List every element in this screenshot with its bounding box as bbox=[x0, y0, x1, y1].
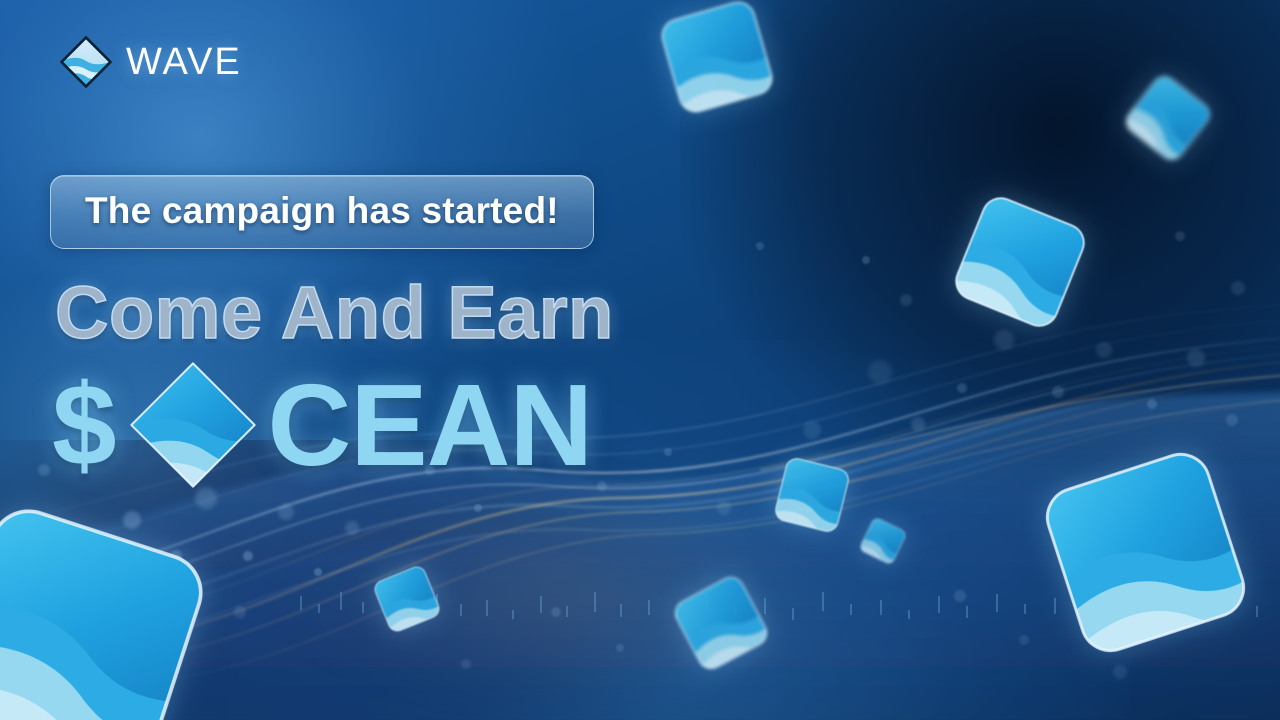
bokeh-dot bbox=[1226, 414, 1238, 426]
bokeh-dot bbox=[474, 504, 482, 512]
bokeh-dot bbox=[957, 383, 967, 393]
bokeh-dot bbox=[278, 504, 294, 520]
bokeh-dot bbox=[911, 417, 925, 431]
bokeh-dot bbox=[862, 256, 870, 264]
bokeh-dot bbox=[597, 481, 607, 491]
campaign-status-badge[interactable]: The campaign has started! bbox=[50, 175, 594, 249]
bokeh-dot bbox=[900, 294, 912, 306]
bokeh-dot bbox=[1052, 386, 1064, 398]
bokeh-dot bbox=[756, 242, 764, 250]
bokeh-dot bbox=[1175, 231, 1185, 241]
bokeh-dot bbox=[1096, 342, 1112, 358]
brand-logo-lockup[interactable]: WAVE bbox=[60, 36, 242, 88]
bokeh-dot bbox=[243, 551, 253, 561]
ticker-dollar-sign: $ bbox=[52, 367, 116, 483]
bokeh-dot bbox=[461, 659, 471, 669]
brand-wordmark: WAVE bbox=[126, 41, 242, 84]
bokeh-dot bbox=[803, 421, 821, 439]
campaign-status-label: The campaign has started! bbox=[85, 190, 559, 231]
bokeh-dot bbox=[314, 568, 322, 576]
bokeh-dot bbox=[954, 590, 966, 602]
ticker-symbol-rest: CEAN bbox=[268, 367, 593, 483]
bokeh-dot bbox=[1231, 281, 1245, 295]
bokeh-dot bbox=[1147, 399, 1157, 409]
bokeh-dot bbox=[345, 521, 359, 535]
bokeh-dot bbox=[717, 501, 731, 515]
bokeh-dot bbox=[664, 448, 672, 456]
bokeh-dot bbox=[616, 644, 624, 652]
bokeh-dot bbox=[994, 330, 1014, 350]
headline-text: Come And Earn bbox=[55, 270, 614, 355]
bokeh-dot bbox=[868, 360, 892, 384]
bokeh-dot bbox=[1187, 349, 1205, 367]
bokeh-dot bbox=[1113, 665, 1127, 679]
promo-banner: WAVE The campaign has started! Come And … bbox=[0, 0, 1280, 720]
token-ticker: $ bbox=[52, 358, 592, 492]
ocean-token-icon bbox=[126, 358, 260, 492]
bokeh-dot bbox=[234, 606, 246, 618]
bokeh-dot bbox=[1019, 635, 1029, 645]
wave-diamond-logo-icon bbox=[60, 36, 112, 88]
bokeh-dot bbox=[38, 464, 50, 476]
bokeh-dot bbox=[551, 607, 561, 617]
